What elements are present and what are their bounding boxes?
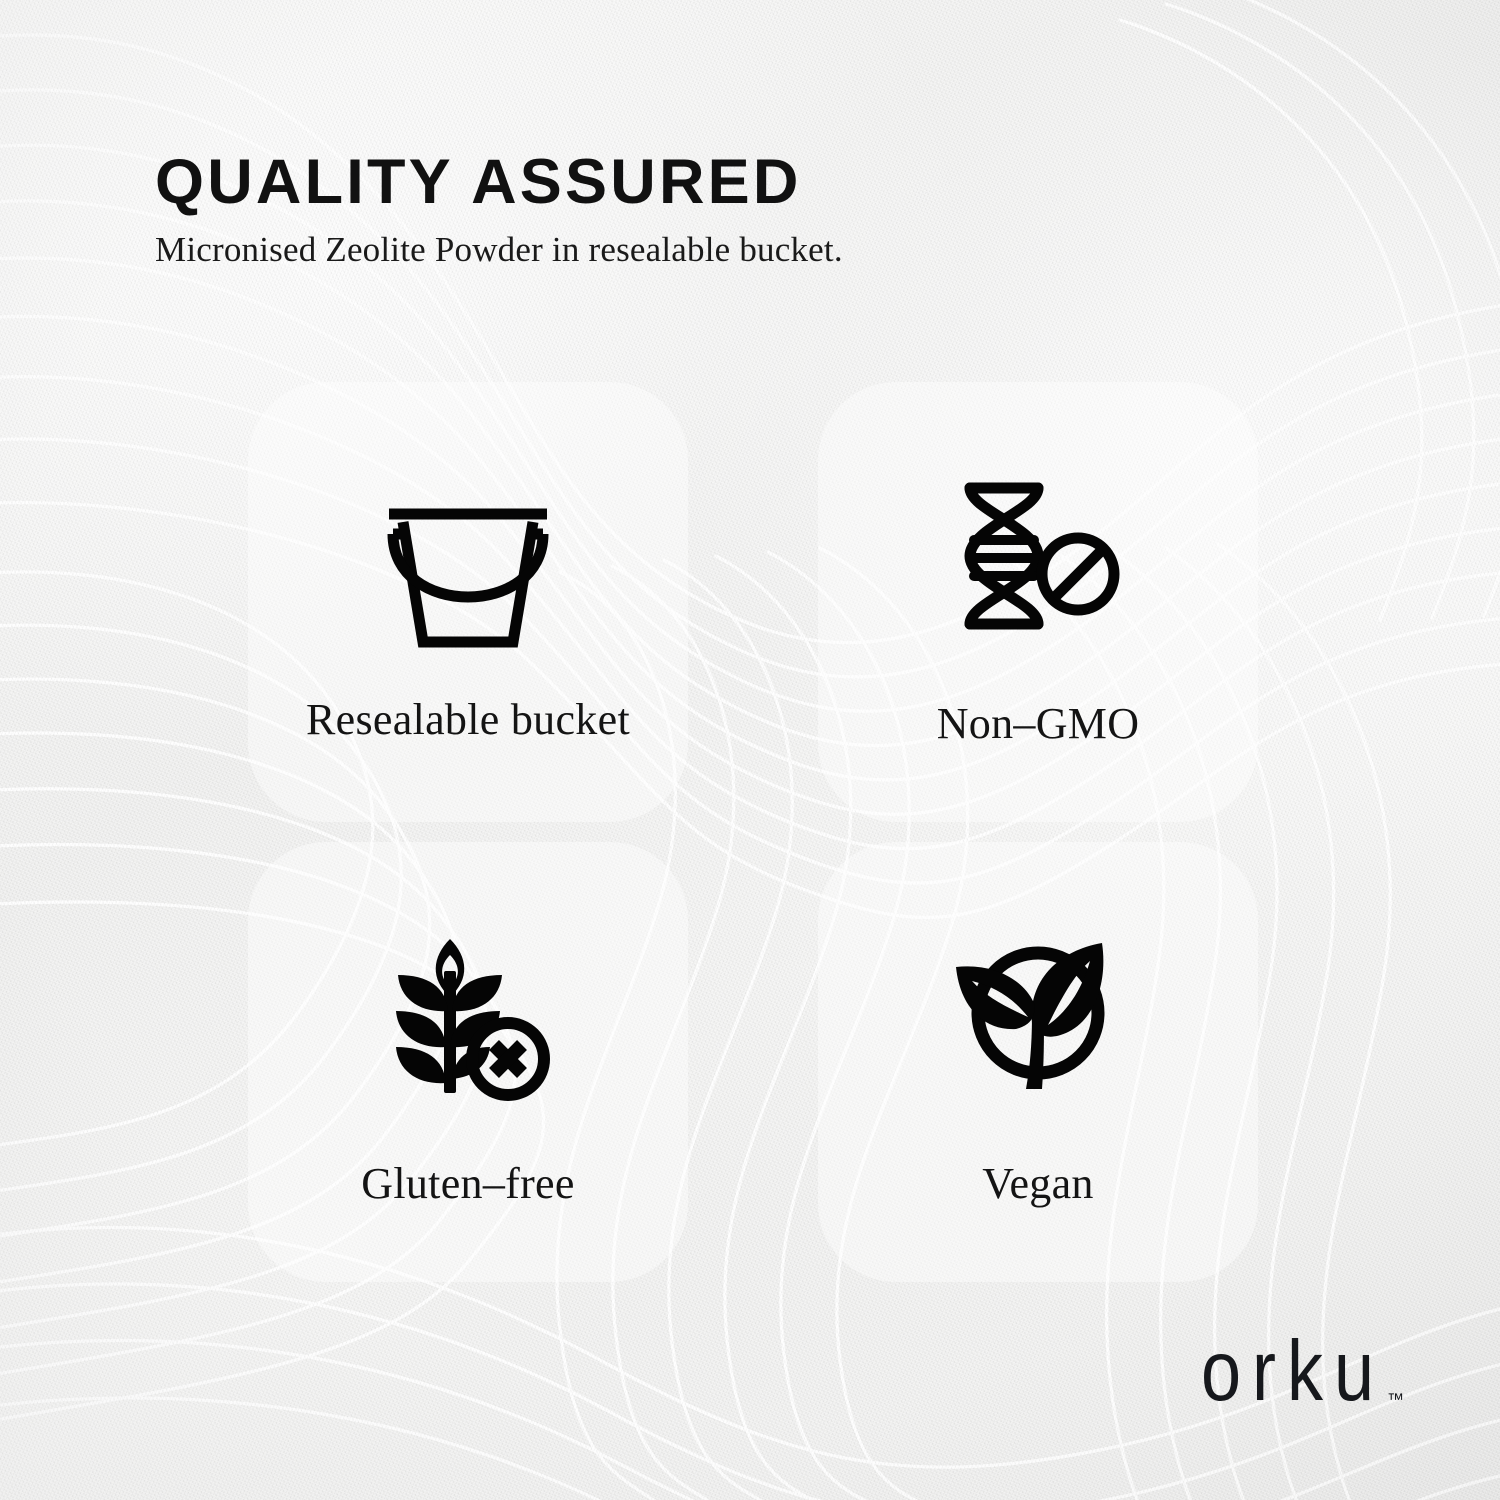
brand-logo: orku ™ — [1201, 1342, 1404, 1414]
feature-card-resealable-bucket: Resealable bucket — [248, 382, 688, 822]
page-title: QUALITY ASSURED — [155, 150, 1355, 214]
leaf-circle-icon — [952, 920, 1124, 1110]
bucket-icon — [379, 480, 557, 670]
brand-logo-wordmark: orku — [1201, 1329, 1385, 1414]
quality-assured-infographic: QUALITY ASSURED Micronised Zeolite Powde… — [0, 0, 1500, 1500]
header: QUALITY ASSURED Micronised Zeolite Powde… — [155, 150, 1355, 271]
dna-no-gmo-icon — [954, 462, 1122, 652]
feature-label-non-gmo: Non–GMO — [937, 696, 1140, 751]
feature-card-non-gmo: Non–GMO — [818, 382, 1258, 822]
feature-grid: Resealable bucket — [248, 382, 1258, 1282]
feature-label-vegan: Vegan — [982, 1156, 1093, 1211]
feature-card-gluten-free: Gluten–free — [248, 842, 688, 1282]
trademark-symbol: ™ — [1387, 1391, 1404, 1408]
wheat-crossed-icon — [382, 924, 554, 1114]
feature-card-vegan: Vegan — [818, 842, 1258, 1282]
feature-label-resealable-bucket: Resealable bucket — [306, 692, 630, 747]
feature-label-gluten-free: Gluten–free — [361, 1156, 574, 1211]
page-subtitle: Micronised Zeolite Powder in resealable … — [155, 230, 1355, 270]
